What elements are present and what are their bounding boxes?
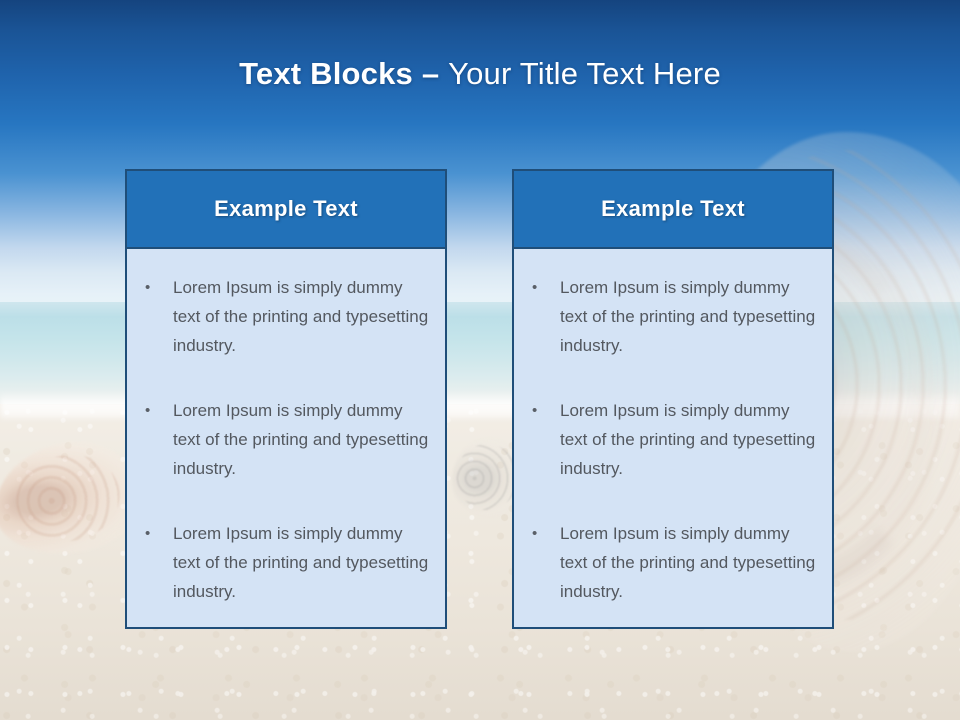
- list-item: • Lorem Ipsum is simply dummy text of th…: [524, 396, 816, 483]
- bullet-list: • Lorem Ipsum is simply dummy text of th…: [524, 273, 816, 606]
- page-title-bold: Text Blocks: [239, 56, 413, 91]
- bullet-dot-icon: •: [524, 519, 560, 548]
- seashell-center-rings-icon: [456, 444, 518, 510]
- list-item: • Lorem Ipsum is simply dummy text of th…: [137, 273, 429, 360]
- bullet-dot-icon: •: [524, 396, 560, 425]
- bullet-dot-icon: •: [137, 396, 173, 425]
- list-item-text: Lorem Ipsum is simply dummy text of the …: [560, 273, 816, 360]
- list-item: • Lorem Ipsum is simply dummy text of th…: [524, 273, 816, 360]
- list-item-text: Lorem Ipsum is simply dummy text of the …: [173, 396, 429, 483]
- text-block-2-header: Example Text: [514, 171, 832, 249]
- list-item: • Lorem Ipsum is simply dummy text of th…: [137, 396, 429, 483]
- text-block-1-header-label: Example Text: [214, 196, 358, 222]
- slide-canvas: Text Blocks – Your Title Text Here Examp…: [0, 0, 960, 720]
- list-item-text: Lorem Ipsum is simply dummy text of the …: [173, 519, 429, 606]
- list-item-text: Lorem Ipsum is simply dummy text of the …: [173, 273, 429, 360]
- text-block-2-body: • Lorem Ipsum is simply dummy text of th…: [514, 249, 832, 627]
- list-item-text: Lorem Ipsum is simply dummy text of the …: [560, 519, 816, 606]
- page-title: Text Blocks – Your Title Text Here: [0, 52, 960, 96]
- text-block-1-body: • Lorem Ipsum is simply dummy text of th…: [127, 249, 445, 627]
- page-title-light: Your Title Text Here: [448, 56, 721, 91]
- bullet-dot-icon: •: [524, 273, 560, 302]
- list-item-text: Lorem Ipsum is simply dummy text of the …: [560, 396, 816, 483]
- bullet-list: • Lorem Ipsum is simply dummy text of th…: [137, 273, 429, 606]
- page-title-dash: –: [413, 56, 448, 91]
- text-block-2-header-label: Example Text: [601, 196, 745, 222]
- text-block-1: Example Text • Lorem Ipsum is simply dum…: [125, 169, 447, 629]
- bullet-dot-icon: •: [137, 273, 173, 302]
- list-item: • Lorem Ipsum is simply dummy text of th…: [524, 519, 816, 606]
- list-item: • Lorem Ipsum is simply dummy text of th…: [137, 519, 429, 606]
- text-block-1-header: Example Text: [127, 171, 445, 249]
- bullet-dot-icon: •: [137, 519, 173, 548]
- text-block-2: Example Text • Lorem Ipsum is simply dum…: [512, 169, 834, 629]
